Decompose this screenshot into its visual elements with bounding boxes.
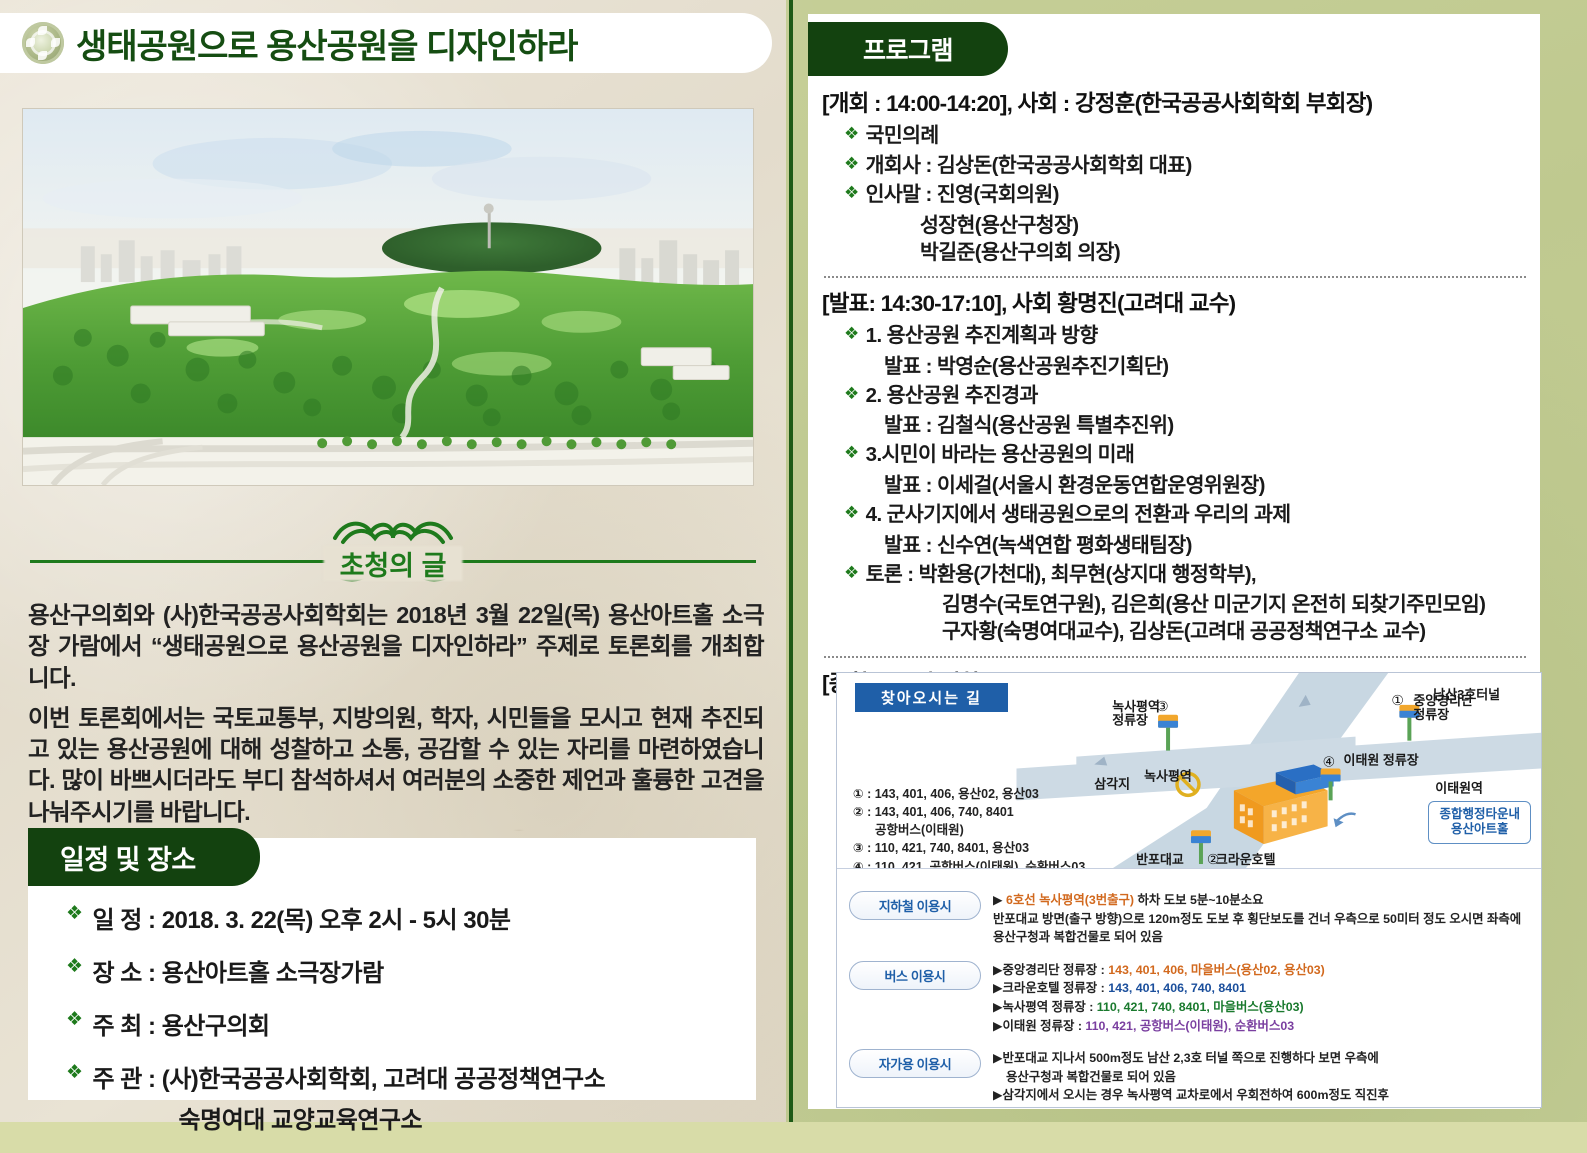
- presentation-item: ❖ 2. 용산공원 추진경과: [844, 383, 1528, 410]
- schedule-row-label: 주 최 : 용산구의회: [93, 1006, 270, 1041]
- svg-text:반포대교: 반포대교: [1136, 852, 1184, 867]
- bus-route-line: ▶이태원 정류장 : 110, 421, 공항버스(이태원), 순환버스03: [993, 1017, 1325, 1036]
- discussion-item: ❖ 토론 : 박환용(가천대), 최무현(상지대 행정학부),: [844, 562, 1528, 589]
- triangle-bullet-icon: ▶: [993, 963, 1003, 977]
- invitation-heading: 초청의 글: [30, 512, 756, 584]
- page-title: 생태공원으로 용산공원을 디자인하라: [76, 19, 577, 68]
- legend-text: : 143, 401, 406, 용산02, 용산03: [867, 787, 1039, 801]
- opening-item: ❖ 국민의례: [844, 123, 1528, 150]
- schedule-row: ❖ 장 소 : 용산아트홀 소극장가람: [66, 953, 740, 988]
- legend-marker: ①: [853, 787, 864, 801]
- svg-text:이태원역: 이태원역: [1435, 780, 1483, 795]
- legend-text: : 143, 401, 406, 740, 8401: [867, 805, 1014, 819]
- bus-routes: 110, 421, 740, 8401, 마을버스(용산03): [1097, 1000, 1304, 1014]
- bus-route-line: ▶크라운호텔 정류장 : 143, 401, 406, 740, 8401: [993, 979, 1325, 998]
- car-main: 반포대교 지나서 500m정도 남산 2,3호 터널 쪽으로 진행하다 보면 우…: [1003, 1051, 1379, 1065]
- opening-item-sub: 성장현(용산구청장): [920, 212, 1528, 239]
- opening-item: ❖ 인사말 : 진영(국회의원): [844, 182, 1528, 209]
- presentation-item-label: 1. 용산공원 추진계획과 방향: [866, 323, 1098, 350]
- map-graphic: ① ② ③ ④ 남산3호터널 중앙경리단 정류장 삼각지 녹사평역 정류장 녹사…: [837, 673, 1541, 869]
- svg-text:정류장: 정류장: [1112, 713, 1148, 728]
- map-legend: ① : 143, 401, 406, 용산02, 용산03 ② : 143, 4…: [853, 785, 1085, 869]
- bus-route-line: ▶녹사평역 정류장 : 110, 421, 740, 8401, 마을버스(용산…: [993, 998, 1325, 1017]
- legend-row: ④ : 110, 421, 공항버스(이태원), 순환버스03: [853, 858, 1085, 870]
- subway-line1-rest: 하차 도보 5분~10분소요: [1134, 893, 1263, 907]
- diamond-bullet-icon: ❖: [844, 502, 859, 525]
- car-chip: 자가용 이용시: [849, 1049, 981, 1078]
- section-divider: [824, 276, 1526, 278]
- schedule-badge: 일정 및 장소: [28, 828, 260, 886]
- presentation-item-sub: 발표 : 신수연(녹색연합 평화생태팀장): [884, 532, 1528, 559]
- svg-text:정류장: 정류장: [1413, 707, 1449, 722]
- transit-bus-row: 버스 이용시 ▶중앙경리단 정류장 : 143, 401, 406, 마을버스(…: [849, 961, 1529, 1035]
- bus-stop-name: 중앙경리단 정류장 :: [1003, 963, 1109, 977]
- invitation-body: 용산구의회와 (사)한국공공사회학회는 2018년 3월 22일(목) 용산아트…: [28, 600, 764, 837]
- triangle-bullet-icon: ▶: [993, 1088, 1003, 1102]
- diamond-bullet-icon: ❖: [844, 182, 859, 205]
- legend-marker: ②: [853, 805, 864, 819]
- presentation-section-title: [발표: 14:30-17:10], 사회 황명진(고려대 교수): [822, 286, 1528, 318]
- triangle-bullet-icon: ▶: [993, 1051, 1003, 1065]
- park-rendering-image: [22, 108, 754, 486]
- opening-item-label: 인사말 : 진영(국회의원): [866, 182, 1059, 209]
- invitation-heading-label: 초청의 글: [328, 544, 459, 583]
- diamond-bullet-icon: ❖: [844, 383, 859, 406]
- diamond-bullet-icon: ❖: [844, 323, 859, 346]
- bus-stop-name: 크라운호텔 정류장 :: [1003, 981, 1109, 995]
- schedule-row-label: 주 관 : (사)한국공공사회학회, 고려대 공공정책연구소: [93, 1066, 606, 1093]
- opening-item: ❖ 개회사 : 김상돈(한국공공사회학회 대표): [844, 153, 1528, 180]
- car-direction-line: ▶반포대교 지나서 500m정도 남산 2,3호 터널 쪽으로 진행하다 보면 …: [993, 1049, 1393, 1086]
- schedule-card: 일정 및 장소 ❖ 일 정 : 2018. 3. 22(목) 오후 2시 - 5…: [28, 838, 756, 1100]
- presentation-item-label: 3.시민이 바라는 용산공원의 미래: [866, 442, 1135, 469]
- presentation-item-sub: 발표 : 김철식(용산공원 특별추진위): [884, 412, 1528, 439]
- svg-text:①: ①: [1391, 693, 1404, 709]
- legend-row: ① : 143, 401, 406, 용산02, 용산03: [853, 785, 1085, 803]
- program-body: [개회 : 14:00-14:20], 사회 : 강정훈(한국공공사회학회 부회…: [822, 86, 1528, 703]
- program-badge: 프로그램: [808, 22, 1008, 76]
- diamond-bullet-icon: ❖: [66, 900, 83, 928]
- bus-routes: 110, 421, 공항버스(이태원), 순환버스03: [1085, 1019, 1294, 1033]
- diamond-bullet-icon: ❖: [66, 1059, 83, 1087]
- schedule-row-label: 일 정 : 2018. 3. 22(목) 오후 2시 - 5시 30분: [93, 900, 511, 935]
- schedule-row: ❖ 일 정 : 2018. 3. 22(목) 오후 2시 - 5시 30분: [66, 900, 740, 935]
- schedule-list: ❖ 일 정 : 2018. 3. 22(목) 오후 2시 - 5시 30분 ❖ …: [66, 900, 740, 1153]
- map-title: 찾아오시는 길: [855, 683, 1008, 712]
- invitation-paragraph-1: 용산구의회와 (사)한국공공사회학회는 2018년 3월 22일(목) 용산아트…: [28, 600, 764, 694]
- presentation-item: ❖ 4. 군사기지에서 생태공원으로의 전환과 우리의 과제: [844, 502, 1528, 529]
- triangle-bullet-icon: ▶: [993, 981, 1003, 995]
- diamond-bullet-icon: ❖: [844, 442, 859, 465]
- subway-line3: 용산구청과 복합건물로 되어 있음: [993, 928, 1521, 947]
- bus-stop-name: 녹사평역 정류장 :: [1003, 1000, 1097, 1014]
- subway-highlight: 6호선 녹사평역(3번출구): [1006, 893, 1134, 907]
- presentation-item: ❖ 3.시민이 바라는 용산공원의 미래: [844, 442, 1528, 469]
- rosette-emblem-icon: [22, 22, 64, 64]
- presentation-item-sub: 발표 : 이세걸(서울시 환경운동연합운영위원장): [884, 472, 1528, 499]
- subway-line2: 반포대교 방면(출구 방향)으로 120m정도 도보 후 횡단보도를 건너 우측…: [993, 910, 1521, 929]
- vertical-divider: [789, 0, 793, 1122]
- discussion-item-sub: 구자황(숙명여대교수), 김상돈(고려대 공공정책연구소 교수): [942, 618, 1528, 645]
- svg-text:삼각지: 삼각지: [1094, 776, 1130, 791]
- triangle-bullet-icon: ▶: [993, 1000, 1003, 1014]
- presentation-item-label: 2. 용산공원 추진경과: [866, 383, 1038, 410]
- opening-item-label: 개회사 : 김상돈(한국공공사회학회 대표): [866, 153, 1192, 180]
- svg-text:이태원 정류장: 이태원 정류장: [1344, 753, 1419, 768]
- schedule-row-sublabel: 숙명여대 교양교육연구소: [179, 1100, 606, 1135]
- triangle-bullet-icon: ▶: [993, 893, 1003, 907]
- venue-callout-line1: 종합행정타운내: [1439, 807, 1520, 823]
- legend-row-cont: 공항버스(이태원): [875, 821, 1085, 839]
- directions-card: ① ② ③ ④ 남산3호터널 중앙경리단 정류장 삼각지 녹사평역 정류장 녹사…: [836, 672, 1542, 1108]
- legend-marker: ③: [853, 841, 864, 855]
- svg-text:녹사평역: 녹사평역: [1144, 768, 1192, 783]
- bus-routes: 143, 401, 406, 740, 8401: [1108, 981, 1246, 995]
- bus-chip: 버스 이용시: [849, 961, 981, 990]
- schedule-row: ❖ 주 최 : 용산구의회: [66, 1006, 740, 1041]
- discussion-item-label: 토론 : 박환용(가천대), 최무현(상지대 행정학부),: [866, 562, 1256, 589]
- diamond-bullet-icon: ❖: [844, 153, 859, 176]
- bus-stop-name: 이태원 정류장 :: [1003, 1019, 1086, 1033]
- opening-item-label: 국민의례: [866, 123, 939, 150]
- bus-route-line: ▶중앙경리단 정류장 : 143, 401, 406, 마을버스(용산02, 용…: [993, 961, 1325, 980]
- triangle-bullet-icon: ▶: [993, 1019, 1003, 1033]
- venue-callout-line2: 용산아트홀: [1439, 822, 1520, 838]
- legend-marker: ④: [853, 860, 864, 870]
- presentation-item-label: 4. 군사기지에서 생태공원으로의 전환과 우리의 과제: [866, 502, 1291, 529]
- subway-chip: 지하철 이용시: [849, 891, 981, 920]
- section-divider: [824, 656, 1526, 658]
- opening-section-title: [개회 : 14:00-14:20], 사회 : 강정훈(한국공공사회학회 부회…: [822, 86, 1528, 118]
- svg-text:녹사평역: 녹사평역: [1112, 699, 1160, 714]
- legend-text: : 110, 421, 공항버스(이태원), 순환버스03: [867, 860, 1085, 870]
- subway-text: ▶ 6호선 녹사평역(3번출구) 하차 도보 5분~10분소요 반포대교 방면(…: [993, 891, 1521, 947]
- transit-car-row: 자가용 이용시 ▶반포대교 지나서 500m정도 남산 2,3호 터널 쪽으로 …: [849, 1049, 1529, 1108]
- svg-text:크라운호텔: 크라운호텔: [1216, 852, 1276, 867]
- diamond-bullet-icon: ❖: [844, 123, 859, 146]
- legend-text: : 110, 421, 740, 8401, 용산03: [867, 841, 1029, 855]
- car-cont: U턴하여 250m정도 진행하다 보면 우측에 용산구청과 복합건물로 되어 있…: [1006, 1105, 1393, 1108]
- diamond-bullet-icon: ❖: [844, 562, 859, 585]
- bus-routes: 143, 401, 406, 마을버스(용산02, 용산03): [1108, 963, 1325, 977]
- car-text: ▶반포대교 지나서 500m정도 남산 2,3호 터널 쪽으로 진행하다 보면 …: [993, 1049, 1393, 1108]
- svg-text:중앙경리단: 중앙경리단: [1413, 693, 1473, 708]
- car-cont: 용산구청과 복합건물로 되어 있음: [1006, 1068, 1393, 1087]
- discussion-item-sub: 김명수(국토연구원), 김은희(용산 미군기지 온전히 되찾기주민모임): [942, 591, 1528, 618]
- car-main: 삼각지에서 오시는 경우 녹사평역 교차로에서 우회전하여 600m정도 직진후: [1003, 1088, 1389, 1102]
- diamond-bullet-icon: ❖: [66, 953, 83, 981]
- presentation-item-sub: 발표 : 박영순(용산공원추진기획단): [884, 353, 1528, 380]
- transit-info: 지하철 이용시 ▶ 6호선 녹사평역(3번출구) 하차 도보 5분~10분소요 …: [837, 869, 1541, 1108]
- opening-item-sub: 박길준(용산구의회 의장): [920, 239, 1528, 266]
- car-direction-line: ▶삼각지에서 오시는 경우 녹사평역 교차로에서 우회전하여 600m정도 직진…: [993, 1086, 1393, 1108]
- bus-text: ▶중앙경리단 정류장 : 143, 401, 406, 마을버스(용산02, 용…: [993, 961, 1325, 1035]
- invitation-paragraph-2: 이번 토론회에서는 국토교통부, 지방의원, 학자, 시민들을 모시고 현재 추…: [28, 703, 764, 828]
- diamond-bullet-icon: ❖: [66, 1006, 83, 1034]
- schedule-row: ❖ 주 관 : (사)한국공공사회학회, 고려대 공공정책연구소 숙명여대 교양…: [66, 1059, 740, 1135]
- legend-row: ③ : 110, 421, 740, 8401, 용산03: [853, 839, 1085, 857]
- legend-row: ② : 143, 401, 406, 740, 8401: [853, 803, 1085, 821]
- schedule-row-label: 장 소 : 용산아트홀 소극장가람: [93, 953, 384, 988]
- transit-subway-row: 지하철 이용시 ▶ 6호선 녹사평역(3번출구) 하차 도보 5분~10분소요 …: [849, 891, 1529, 947]
- venue-callout: 종합행정타운내 용산아트홀: [1428, 801, 1531, 844]
- svg-text:④: ④: [1323, 755, 1336, 771]
- presentation-item: ❖ 1. 용산공원 추진계획과 방향: [844, 323, 1528, 350]
- poster-title-bar: 생태공원으로 용산공원을 디자인하라: [0, 13, 772, 73]
